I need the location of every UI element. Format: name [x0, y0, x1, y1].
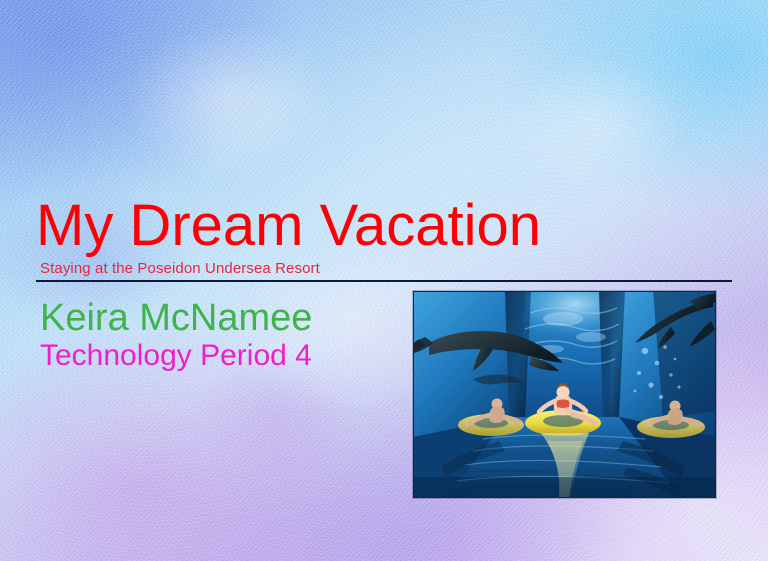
- underwater-shark-tunnel-photo-graphic: [413, 291, 716, 498]
- author-class: Technology Period 4: [40, 341, 312, 371]
- author-name: Keira McNamee: [40, 299, 312, 337]
- title-divider-rule: [36, 280, 732, 282]
- presentation-slide: My Dream Vacation Staying at the Poseido…: [0, 0, 768, 561]
- slide-subtitle: Staying at the Poseidon Undersea Resort: [40, 260, 736, 277]
- page-title: My Dream Vacation: [36, 196, 736, 256]
- underwater-shark-tunnel-photo: [413, 291, 716, 498]
- title-block: My Dream Vacation Staying at the Poseido…: [36, 196, 736, 282]
